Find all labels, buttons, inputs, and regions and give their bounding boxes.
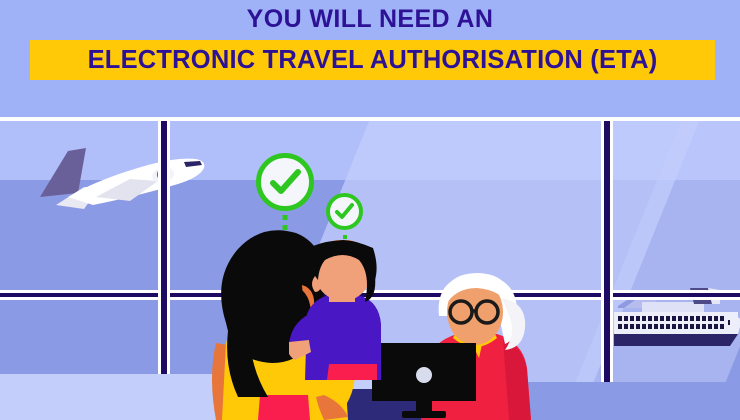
poster-root: YOU WILL NEED AN ELECTRONIC TRAVEL AUTHO… bbox=[0, 0, 740, 420]
check-circle-small-icon bbox=[326, 193, 363, 230]
dot bbox=[283, 215, 288, 220]
window-mullion-right bbox=[601, 117, 613, 420]
page-title: YOU WILL NEED AN bbox=[0, 4, 740, 34]
banner-title: ELECTRONIC TRAVEL AUTHORISATION (ETA) bbox=[30, 40, 715, 80]
airplane-icon bbox=[38, 135, 213, 220]
approval-badge-small bbox=[326, 193, 363, 230]
poster-header: YOU WILL NEED AN ELECTRONIC TRAVEL AUTHO… bbox=[0, 0, 740, 117]
approval-badge-large bbox=[256, 153, 314, 211]
illustration-scene bbox=[0, 117, 740, 420]
highlight-banner: ELECTRONIC TRAVEL AUTHORISATION (ETA) bbox=[30, 40, 715, 80]
check-circle-large-icon bbox=[256, 153, 314, 211]
window-frame-top bbox=[0, 117, 740, 121]
traveller-child bbox=[289, 240, 397, 385]
